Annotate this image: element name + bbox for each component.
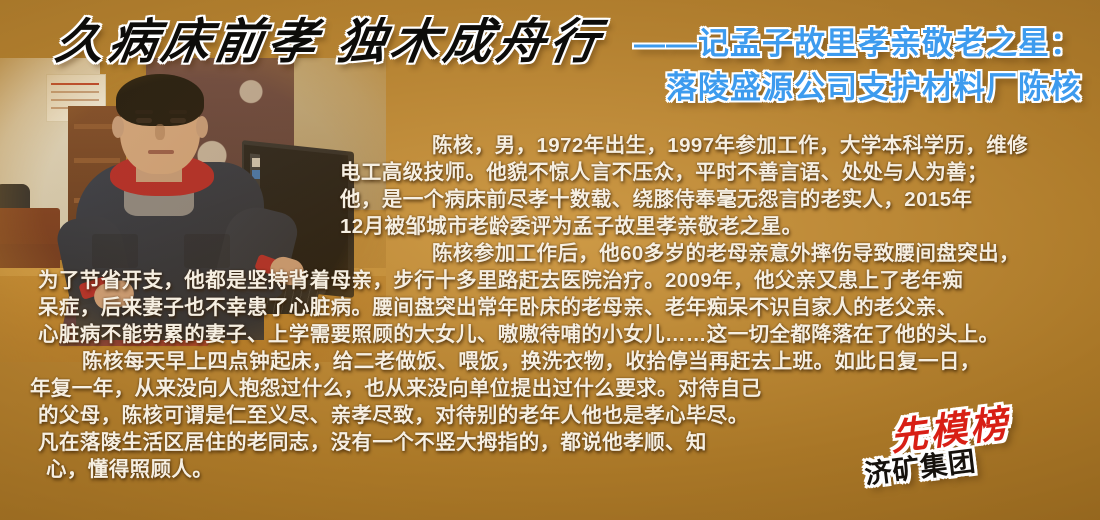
body-line: 的父母，陈核可谓是仁至义尽、亲孝尽致，对待别的老年人他也是孝心毕尽。: [38, 402, 749, 429]
body-line: 陈核，男，1972年出生，1997年参加工作，大学本科学历，维修: [388, 132, 1028, 159]
body-line: 心脏病不能劳累的妻子、上学需要照顾的大女儿、嗷嗷待哺的小女儿……这一切全都降落在…: [38, 321, 999, 348]
body-line: 陈核参加工作后，他60多岁的老母亲意外摔伤导致腰间盘突出，: [388, 240, 1020, 267]
award-badge: 先模榜 济矿集团: [857, 386, 1077, 507]
body-line: 电工高级技师。他貌不惊人言不压众，平时不善言语、处处与人为善；: [340, 159, 988, 186]
body-line: 凡在落陵生活区居住的老同志，没有一个不竖大拇指的，都说他孝顺、知: [38, 429, 707, 456]
body-line: 心，懂得照顾人。: [46, 456, 213, 483]
body-line: 呆症，后来妻子也不幸患了心脏病。腰间盘突出常年卧床的老母亲、老年痴呆不识自家人的…: [38, 294, 958, 321]
body-line: 12月被邹城市老龄委评为孟子故里孝亲敬老之星。: [340, 213, 803, 240]
subtitle-line-1: ——记孟子故里孝亲敬老之星：: [442, 22, 1082, 66]
poster-banner: 久病床前孝 独木成舟行 ——记孟子故里孝亲敬老之星： 落陵盛源公司支护材料厂陈核…: [0, 0, 1100, 520]
body-line: 年复一年，从来没向人抱怨过什么，也从来没向单位提出过什么要求。对待自己: [30, 375, 762, 402]
subtitle-line-2: 落陵盛源公司支护材料厂陈核: [442, 66, 1082, 110]
body-line: 他，是一个病床前尽孝十数载、绕膝侍奉毫无怨言的老实人，2015年: [340, 186, 972, 213]
body-line: 为了节省开支，他都是坚持背着母亲，步行十多里路赶去医院治疗。2009年，他父亲又…: [38, 267, 963, 294]
subtitle-block: ——记孟子故里孝亲敬老之星： 落陵盛源公司支护材料厂陈核: [442, 22, 1082, 110]
body-line: 陈核每天早上四点钟起床，给二老做饭、喂饭，换洗衣物，收拾停当再赶去上班。如此日复…: [38, 348, 981, 375]
badge-company: 济矿集团: [862, 439, 978, 491]
